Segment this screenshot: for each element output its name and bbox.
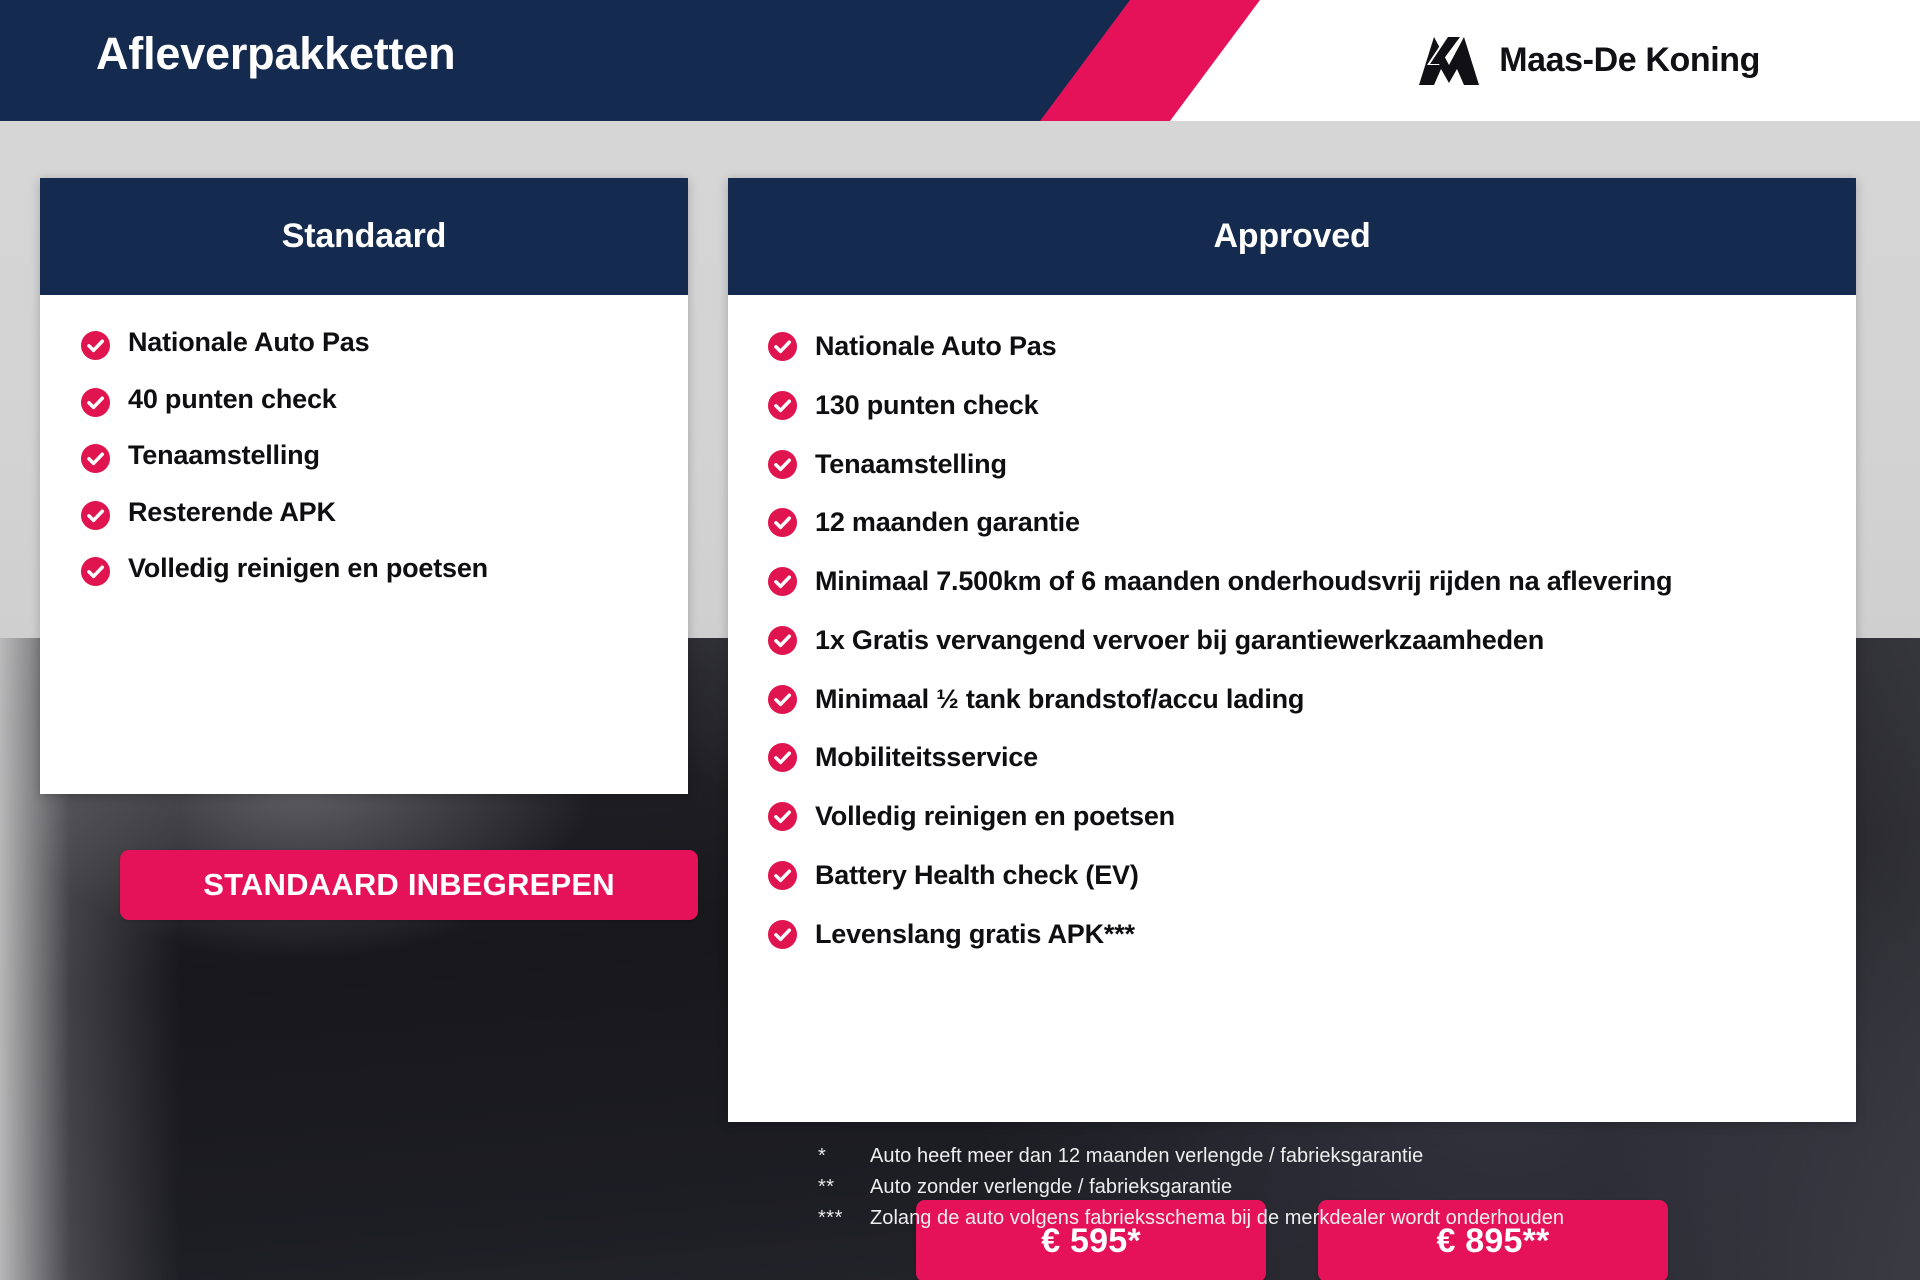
list-item: Resterende APK: [80, 499, 688, 531]
footnote-row: ** Auto zonder verlengde / fabrieksgaran…: [818, 1176, 1564, 1199]
feature-label: Battery Health check (EV): [815, 858, 1139, 892]
card-header-standaard: Standaard: [40, 178, 688, 295]
check-circle-icon: [767, 625, 798, 656]
check-circle-icon: [80, 330, 111, 361]
feature-label: Mobiliteitsservice: [815, 740, 1038, 774]
list-item: Tenaamstelling: [80, 442, 688, 474]
list-item: Minimaal ½ tank brandstof/accu lading: [767, 682, 1840, 716]
check-circle-icon: [767, 860, 798, 891]
list-item: 1x Gratis vervangend vervoer bij garanti…: [767, 623, 1840, 657]
footnote-text: Auto zonder verlengde / fabrieksgarantie: [870, 1176, 1232, 1199]
feature-label: Minimaal 7.500km of 6 maanden onderhouds…: [815, 564, 1672, 598]
check-circle-icon: [767, 742, 798, 773]
footnote-row: * Auto heeft meer dan 12 maanden verleng…: [818, 1145, 1564, 1168]
feature-label: Volledig reinigen en poetsen: [128, 555, 488, 582]
footnote-marker: **: [818, 1176, 870, 1199]
feature-list-approved: Nationale Auto Pas 130 punten check Tena…: [728, 329, 1856, 951]
page-title: Afleverpakketten: [96, 28, 455, 80]
list-item: 12 maanden garantie: [767, 505, 1840, 539]
footnote-marker: ***: [818, 1207, 870, 1230]
feature-label: 12 maanden garantie: [815, 505, 1080, 539]
list-item: 40 punten check: [80, 386, 688, 418]
feature-label: Tenaamstelling: [815, 447, 1007, 481]
brand-logo: Maas-De Koning: [1417, 35, 1760, 87]
check-circle-icon: [767, 390, 798, 421]
check-circle-icon: [767, 449, 798, 480]
card-body-approved: Nationale Auto Pas 130 punten check Tena…: [728, 295, 1856, 951]
maas-de-koning-m-logo-icon: [1417, 35, 1481, 87]
check-circle-icon: [80, 500, 111, 531]
card-title-standaard: Standaard: [282, 217, 446, 256]
standaard-included-button[interactable]: STANDAARD INBEGREPEN: [120, 850, 698, 920]
card-body-standaard: Nationale Auto Pas 40 punten check Tenaa…: [40, 295, 688, 587]
list-item: Nationale Auto Pas: [767, 329, 1840, 363]
list-item: Volledig reinigen en poetsen: [80, 555, 688, 587]
footnote-row: *** Zolang de auto volgens fabrieksschem…: [818, 1207, 1564, 1230]
check-circle-icon: [767, 684, 798, 715]
list-item: Tenaamstelling: [767, 447, 1840, 481]
check-circle-icon: [767, 331, 798, 362]
list-item: Nationale Auto Pas: [80, 329, 688, 361]
footnote-marker: *: [818, 1145, 870, 1168]
feature-label: Minimaal ½ tank brandstof/accu lading: [815, 682, 1304, 716]
list-item: Levenslang gratis APK***: [767, 917, 1840, 951]
list-item: Battery Health check (EV): [767, 858, 1840, 892]
package-card-standaard: Standaard Nationale Auto Pas 40 punten c…: [40, 178, 688, 794]
feature-label: Tenaamstelling: [128, 442, 320, 469]
feature-list-standaard: Nationale Auto Pas 40 punten check Tenaa…: [40, 329, 688, 587]
list-item: Minimaal 7.500km of 6 maanden onderhouds…: [767, 564, 1840, 598]
feature-label: Nationale Auto Pas: [128, 329, 369, 356]
poster-root: Afleverpakketten Maas-De Koning Standaar…: [0, 0, 1920, 1280]
feature-label: 1x Gratis vervangend vervoer bij garanti…: [815, 623, 1544, 657]
check-circle-icon: [767, 507, 798, 538]
footnote-text: Auto heeft meer dan 12 maanden verlengde…: [870, 1145, 1423, 1168]
check-circle-icon: [80, 443, 111, 474]
card-header-approved: Approved: [728, 178, 1856, 295]
check-circle-icon: [80, 387, 111, 418]
check-circle-icon: [767, 566, 798, 597]
list-item: Mobiliteitsservice: [767, 740, 1840, 774]
page-header: Afleverpakketten Maas-De Koning: [0, 0, 1920, 121]
list-item: Volledig reinigen en poetsen: [767, 799, 1840, 833]
check-circle-icon: [767, 919, 798, 950]
feature-label: Levenslang gratis APK***: [815, 917, 1135, 951]
feature-label: Nationale Auto Pas: [815, 329, 1056, 363]
footnotes: * Auto heeft meer dan 12 maanden verleng…: [818, 1145, 1564, 1238]
package-card-approved: Approved Nationale Auto Pas 130 punten c…: [728, 178, 1856, 1122]
brand-name: Maas-De Koning: [1499, 41, 1760, 80]
card-title-approved: Approved: [1213, 217, 1370, 256]
feature-label: Volledig reinigen en poetsen: [815, 799, 1175, 833]
feature-label: Resterende APK: [128, 499, 336, 526]
check-circle-icon: [767, 801, 798, 832]
feature-label: 130 punten check: [815, 388, 1038, 422]
check-circle-icon: [80, 556, 111, 587]
footnote-text: Zolang de auto volgens fabrieksschema bi…: [870, 1207, 1564, 1230]
list-item: 130 punten check: [767, 388, 1840, 422]
feature-label: 40 punten check: [128, 386, 337, 413]
